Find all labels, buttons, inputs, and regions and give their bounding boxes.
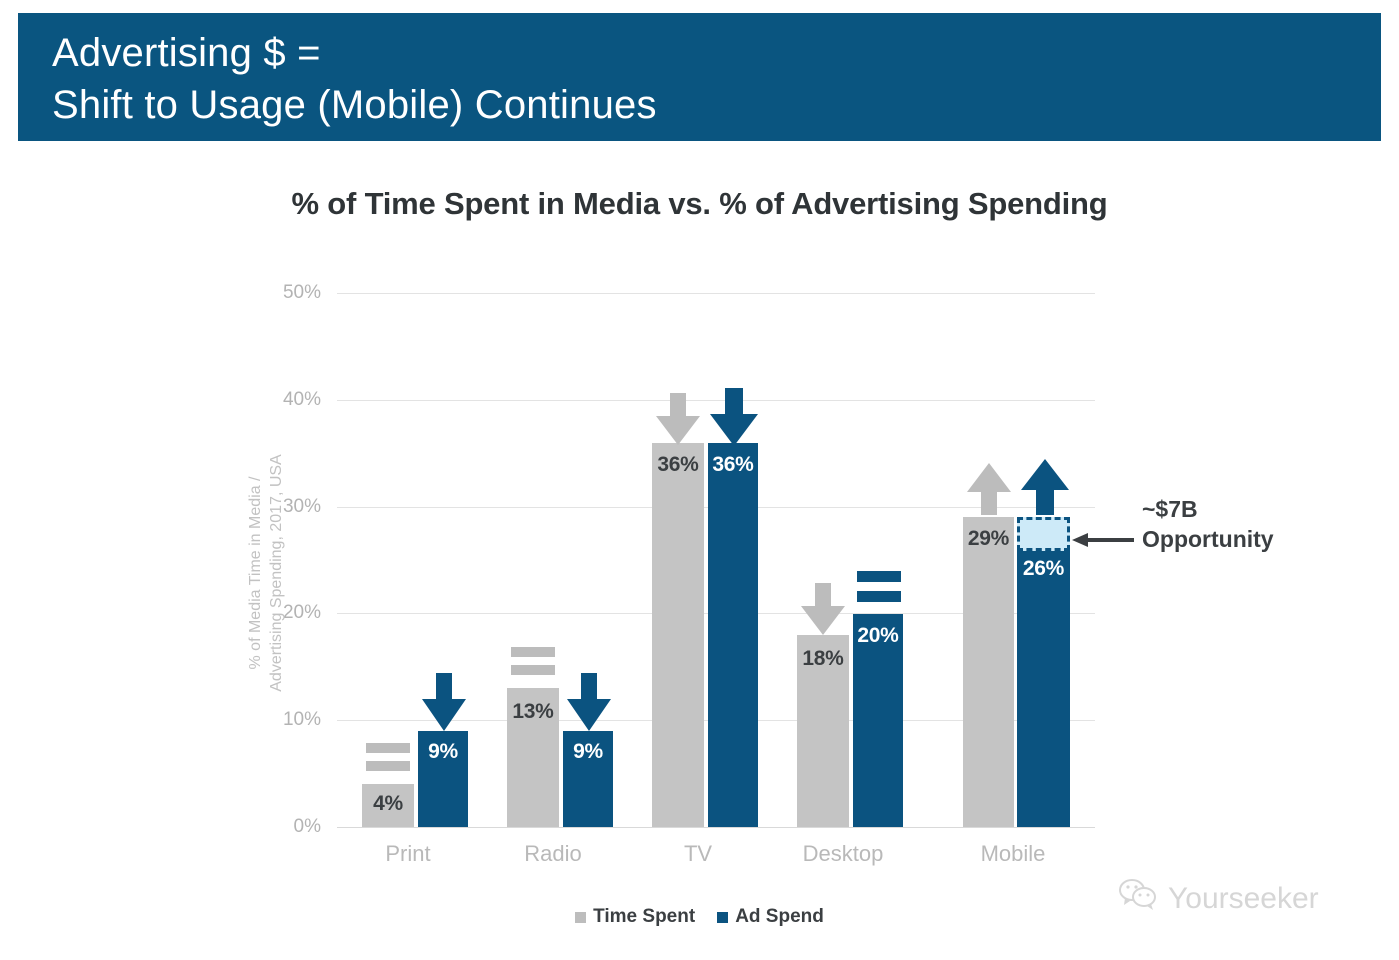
wechat-icon — [1118, 878, 1158, 920]
gridline-50 — [337, 293, 1095, 294]
indicator-down-tv-time-spent — [656, 393, 700, 450]
bar-label-print-ad-spend: 9% — [418, 740, 468, 764]
bar-label-desktop-ad-spend: 20% — [853, 624, 903, 648]
opportunity-box[interactable] — [1017, 517, 1070, 551]
x-label-desktop: Desktop — [783, 841, 903, 867]
axis-baseline — [337, 827, 1095, 828]
header-title-line1: Advertising $ = — [52, 27, 1381, 79]
indicator-down-desktop-time-spent — [801, 583, 845, 640]
indicator-equals-print-time-spent — [366, 740, 410, 779]
bar-label-mobile-time-spent: 29% — [963, 527, 1014, 551]
x-label-print: Print — [348, 841, 468, 867]
watermark-text: Yourseeker — [1168, 882, 1319, 916]
y-tick-label-50: 50% — [259, 282, 321, 304]
legend-item-ad-spend[interactable]: Ad Spend — [717, 906, 824, 928]
bar-label-print-time-spent: 4% — [362, 792, 414, 816]
indicator-down-print-ad-spend — [422, 673, 466, 736]
bar-desktop-time-spent[interactable]: 18% — [797, 635, 849, 827]
y-tick-label-0: 0% — [259, 816, 321, 838]
chart-plot-area: 50% 40% 30% 20% 10% 0% % of Media Time i… — [337, 293, 1095, 827]
header-banner: Advertising $ = Shift to Usage (Mobile) … — [18, 13, 1381, 141]
bar-label-radio-ad-spend: 9% — [563, 740, 613, 764]
indicator-up-mobile-time-spent — [967, 463, 1011, 520]
bar-radio-time-spent[interactable]: 13% — [507, 688, 559, 827]
indicator-equals-desktop-ad-spend — [857, 569, 901, 610]
legend-label-time-spent: Time Spent — [593, 906, 695, 928]
y-axis-title-line1: % of Media Time in Media / — [245, 363, 266, 783]
bar-label-radio-time-spent: 13% — [507, 700, 559, 724]
bar-label-tv-time-spent: 36% — [652, 453, 704, 477]
header-title-line2: Shift to Usage (Mobile) Continues — [52, 79, 1381, 131]
opportunity-callout-label: Opportunity — [1142, 524, 1382, 554]
opportunity-callout: ~$7B Opportunity — [1142, 494, 1382, 554]
opportunity-callout-arrow-icon — [1072, 533, 1134, 547]
bar-tv-ad-spend[interactable]: 36% — [708, 443, 758, 827]
y-axis-title-line2: Advertising Spending, 2017, USA — [266, 363, 287, 783]
bar-radio-ad-spend[interactable]: 9% — [563, 731, 613, 827]
bar-mobile-ad-spend[interactable]: 26% — [1017, 549, 1070, 827]
bar-label-tv-ad-spend: 36% — [708, 453, 758, 477]
bar-label-mobile-ad-spend: 26% — [1017, 557, 1070, 581]
y-axis-title: % of Media Time in Media / Advertising S… — [245, 363, 287, 783]
bar-tv-time-spent[interactable]: 36% — [652, 443, 704, 827]
chart-title: % of Time Spent in Media vs. % of Advert… — [0, 186, 1399, 222]
indicator-down-radio-ad-spend — [567, 673, 611, 736]
legend-label-ad-spend: Ad Spend — [735, 906, 824, 928]
x-label-mobile: Mobile — [953, 841, 1073, 867]
bar-print-time-spent[interactable]: 4% — [362, 784, 414, 827]
indicator-down-tv-ad-spend — [710, 388, 758, 451]
legend-item-time-spent[interactable]: Time Spent — [575, 906, 695, 928]
watermark: Yourseeker — [1118, 878, 1319, 920]
x-label-radio: Radio — [493, 841, 613, 867]
legend-swatch-blue-icon — [717, 912, 728, 923]
bar-print-ad-spend[interactable]: 9% — [418, 731, 468, 827]
indicator-up-mobile-ad-spend — [1021, 459, 1069, 520]
bar-mobile-time-spent[interactable]: 29% — [963, 517, 1014, 827]
x-label-tv: TV — [638, 841, 758, 867]
bar-desktop-ad-spend[interactable]: 20% — [853, 614, 903, 827]
legend-swatch-gray-icon — [575, 912, 586, 923]
opportunity-callout-value: ~$7B — [1142, 494, 1382, 524]
indicator-equals-radio-time-spent — [511, 644, 555, 683]
bar-label-desktop-time-spent: 18% — [797, 647, 849, 671]
